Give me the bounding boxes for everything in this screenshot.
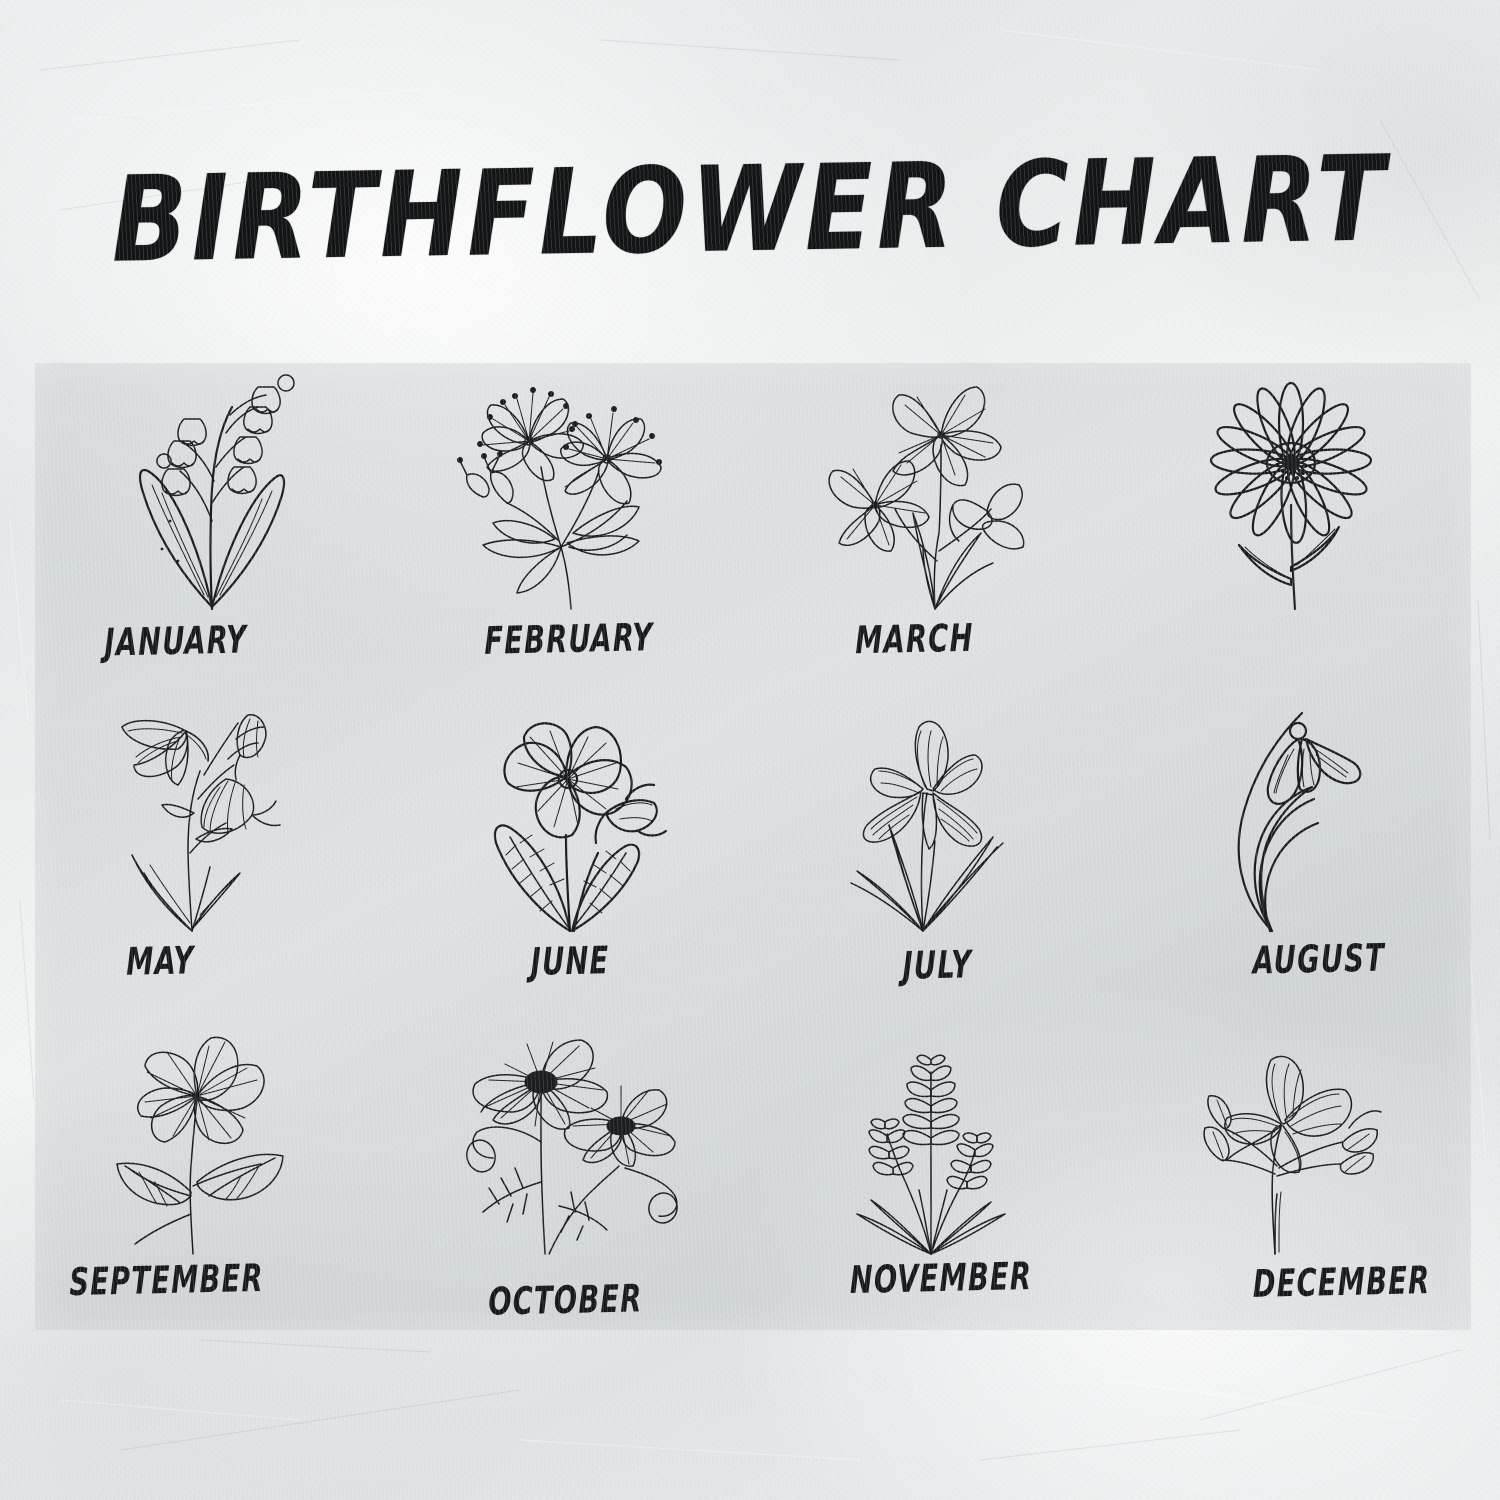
flower-illustration-bellflower bbox=[35, 693, 394, 931]
flower-illustration-snowdrop-gladiolus bbox=[1112, 693, 1471, 931]
month-label-august: AUGUST bbox=[1252, 936, 1385, 983]
flower-illustration-lily-of-the-valley bbox=[35, 371, 394, 609]
month-label-june: JUNE bbox=[531, 938, 610, 984]
flower-illustration-narcissus bbox=[1112, 1016, 1471, 1254]
birthflower-chart-poster: BIRTHFLOWER CHART bbox=[0, 0, 1500, 1500]
month-cell-january[interactable]: JANUARY bbox=[35, 363, 394, 685]
month-grid: JANUARY bbox=[35, 363, 1471, 1330]
flower-illustration-rose-primrose bbox=[394, 693, 753, 931]
month-label-december: DECEMBER bbox=[1252, 1258, 1430, 1306]
month-label-october: OCTOBER bbox=[488, 1276, 643, 1323]
month-cell-august[interactable]: AUGUST bbox=[1112, 685, 1471, 1007]
month-label-march: MARCH bbox=[855, 616, 974, 663]
month-label-september: SEPTEMBER bbox=[69, 1256, 264, 1304]
flower-illustration-violet-blossom-spray bbox=[394, 371, 753, 609]
month-label-july: JULY bbox=[902, 943, 972, 989]
month-cell-september[interactable]: SEPTEMBER bbox=[35, 1008, 394, 1330]
page-title: BIRTHFLOWER CHART bbox=[44, 138, 1456, 280]
flower-illustration-daisy bbox=[1112, 371, 1471, 609]
month-label-november: NOVEMBER bbox=[849, 1254, 1032, 1302]
month-cell-april[interactable] bbox=[1112, 363, 1471, 685]
chart-panel: JANUARY bbox=[35, 363, 1471, 1330]
month-cell-june[interactable]: JUNE bbox=[394, 685, 753, 1007]
flower-illustration-daffodil bbox=[753, 371, 1112, 609]
flower-illustration-iris-larkspur bbox=[753, 693, 1112, 931]
month-cell-october[interactable]: OCTOBER bbox=[394, 1008, 753, 1330]
flower-illustration-lavender-chrysanthemum bbox=[753, 1016, 1112, 1254]
month-cell-february[interactable]: FEBRUARY bbox=[394, 363, 753, 685]
month-label-may: MAY bbox=[126, 939, 195, 984]
month-cell-july[interactable]: JULY bbox=[753, 685, 1112, 1007]
month-cell-december[interactable]: DECEMBER bbox=[1112, 1008, 1471, 1330]
month-cell-march[interactable]: MARCH bbox=[753, 363, 1112, 685]
month-cell-november[interactable]: NOVEMBER bbox=[753, 1008, 1112, 1330]
flower-illustration-aster-morning-glory bbox=[35, 1016, 394, 1254]
month-label-february: FEBRUARY bbox=[484, 615, 654, 663]
month-cell-may[interactable]: MAY bbox=[35, 685, 394, 1007]
flower-illustration-poppy-marigold bbox=[394, 1016, 753, 1254]
month-label-january: JANUARY bbox=[104, 617, 247, 664]
